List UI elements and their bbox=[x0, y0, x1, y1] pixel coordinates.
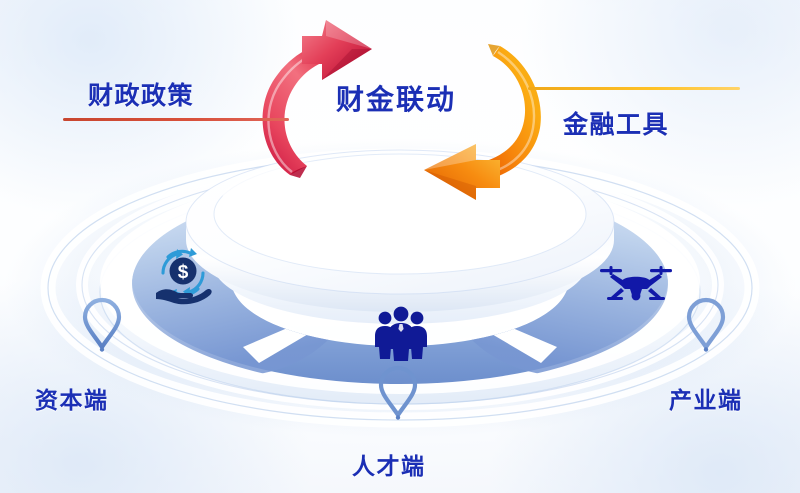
fiscal-policy-label: 财政政策 bbox=[88, 76, 194, 112]
fiscal-policy-rule bbox=[63, 118, 289, 121]
svg-text:$: $ bbox=[178, 262, 189, 283]
map-pin-icon[interactable] bbox=[82, 297, 122, 353]
node-label-capital: 资本端 bbox=[35, 381, 109, 415]
page-title: 财金联动 bbox=[336, 78, 456, 118]
financial-tools-label: 金融工具 bbox=[563, 105, 669, 141]
map-pin-icon[interactable] bbox=[378, 365, 418, 421]
financial-tools-rule bbox=[528, 87, 740, 90]
infographic-canvas: $ bbox=[0, 0, 800, 493]
map-pin-icon[interactable] bbox=[686, 297, 726, 353]
people-group-icon bbox=[373, 305, 429, 361]
drone-icon bbox=[599, 262, 673, 308]
node-label-industry: 产业端 bbox=[669, 381, 743, 415]
node-label-talent: 人才端 bbox=[352, 447, 426, 481]
center-pedestal bbox=[186, 150, 614, 324]
hand-holding-dollar-icon: $ bbox=[150, 243, 216, 305]
